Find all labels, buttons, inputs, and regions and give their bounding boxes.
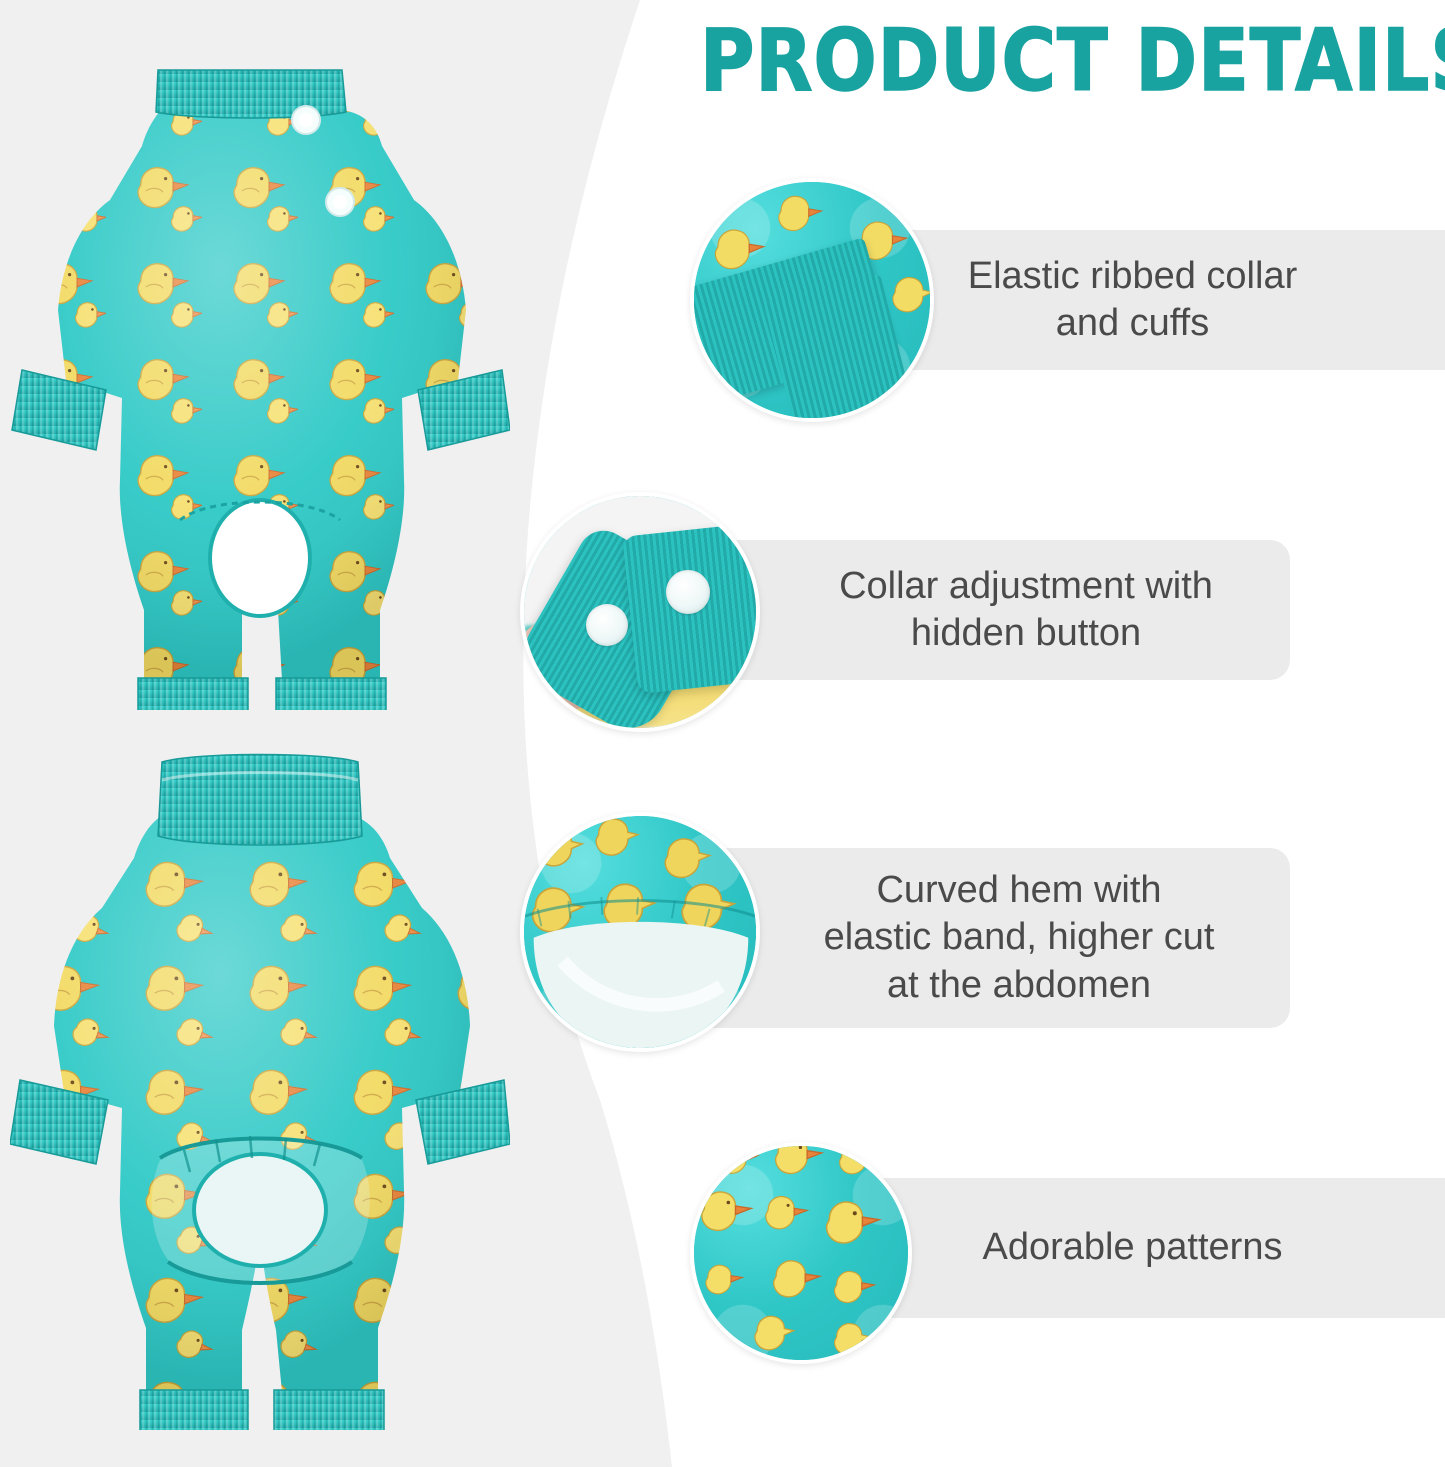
feature-label-line: at the abdomen xyxy=(887,964,1151,1006)
feature-label-line: elastic band, higher cut xyxy=(824,916,1215,958)
ribbed-cuff-closeup-photo xyxy=(690,178,934,422)
feature-label-line: Elastic ribbed collar xyxy=(968,255,1297,297)
feature-label-line: Curved hem with xyxy=(876,869,1161,911)
feature-label-text-4: Adorable patterns xyxy=(983,1224,1283,1272)
feature-label-line: hidden button xyxy=(911,612,1141,654)
pajama-back-view-image xyxy=(10,50,510,710)
feature-label-line: Collar adjustment with xyxy=(839,565,1213,607)
snap-button-right xyxy=(666,570,710,614)
snap-button-left xyxy=(586,604,628,646)
feature-label-line: and cuffs xyxy=(1056,302,1210,344)
hidden-snap-button-closeup-photo xyxy=(520,492,760,732)
feature-label-text-2: Collar adjustment with hidden button xyxy=(729,563,1213,658)
feature-label-text-3: Curved hem with elastic band, higher cut… xyxy=(728,867,1215,1010)
feature-label-text-1: Elastic ribbed collar and cuffs xyxy=(968,253,1297,348)
page-title: PRODUCT DETAILS xyxy=(700,18,1415,104)
curved-elastic-hem-closeup-photo xyxy=(520,812,760,1052)
infographic-canvas: PRODUCT DETAILS xyxy=(0,0,1445,1467)
pajama-front-view-image xyxy=(10,740,510,1430)
duck-pattern-fabric-closeup-photo xyxy=(690,1142,912,1364)
feature-label-panel-4: Adorable patterns xyxy=(820,1178,1445,1318)
